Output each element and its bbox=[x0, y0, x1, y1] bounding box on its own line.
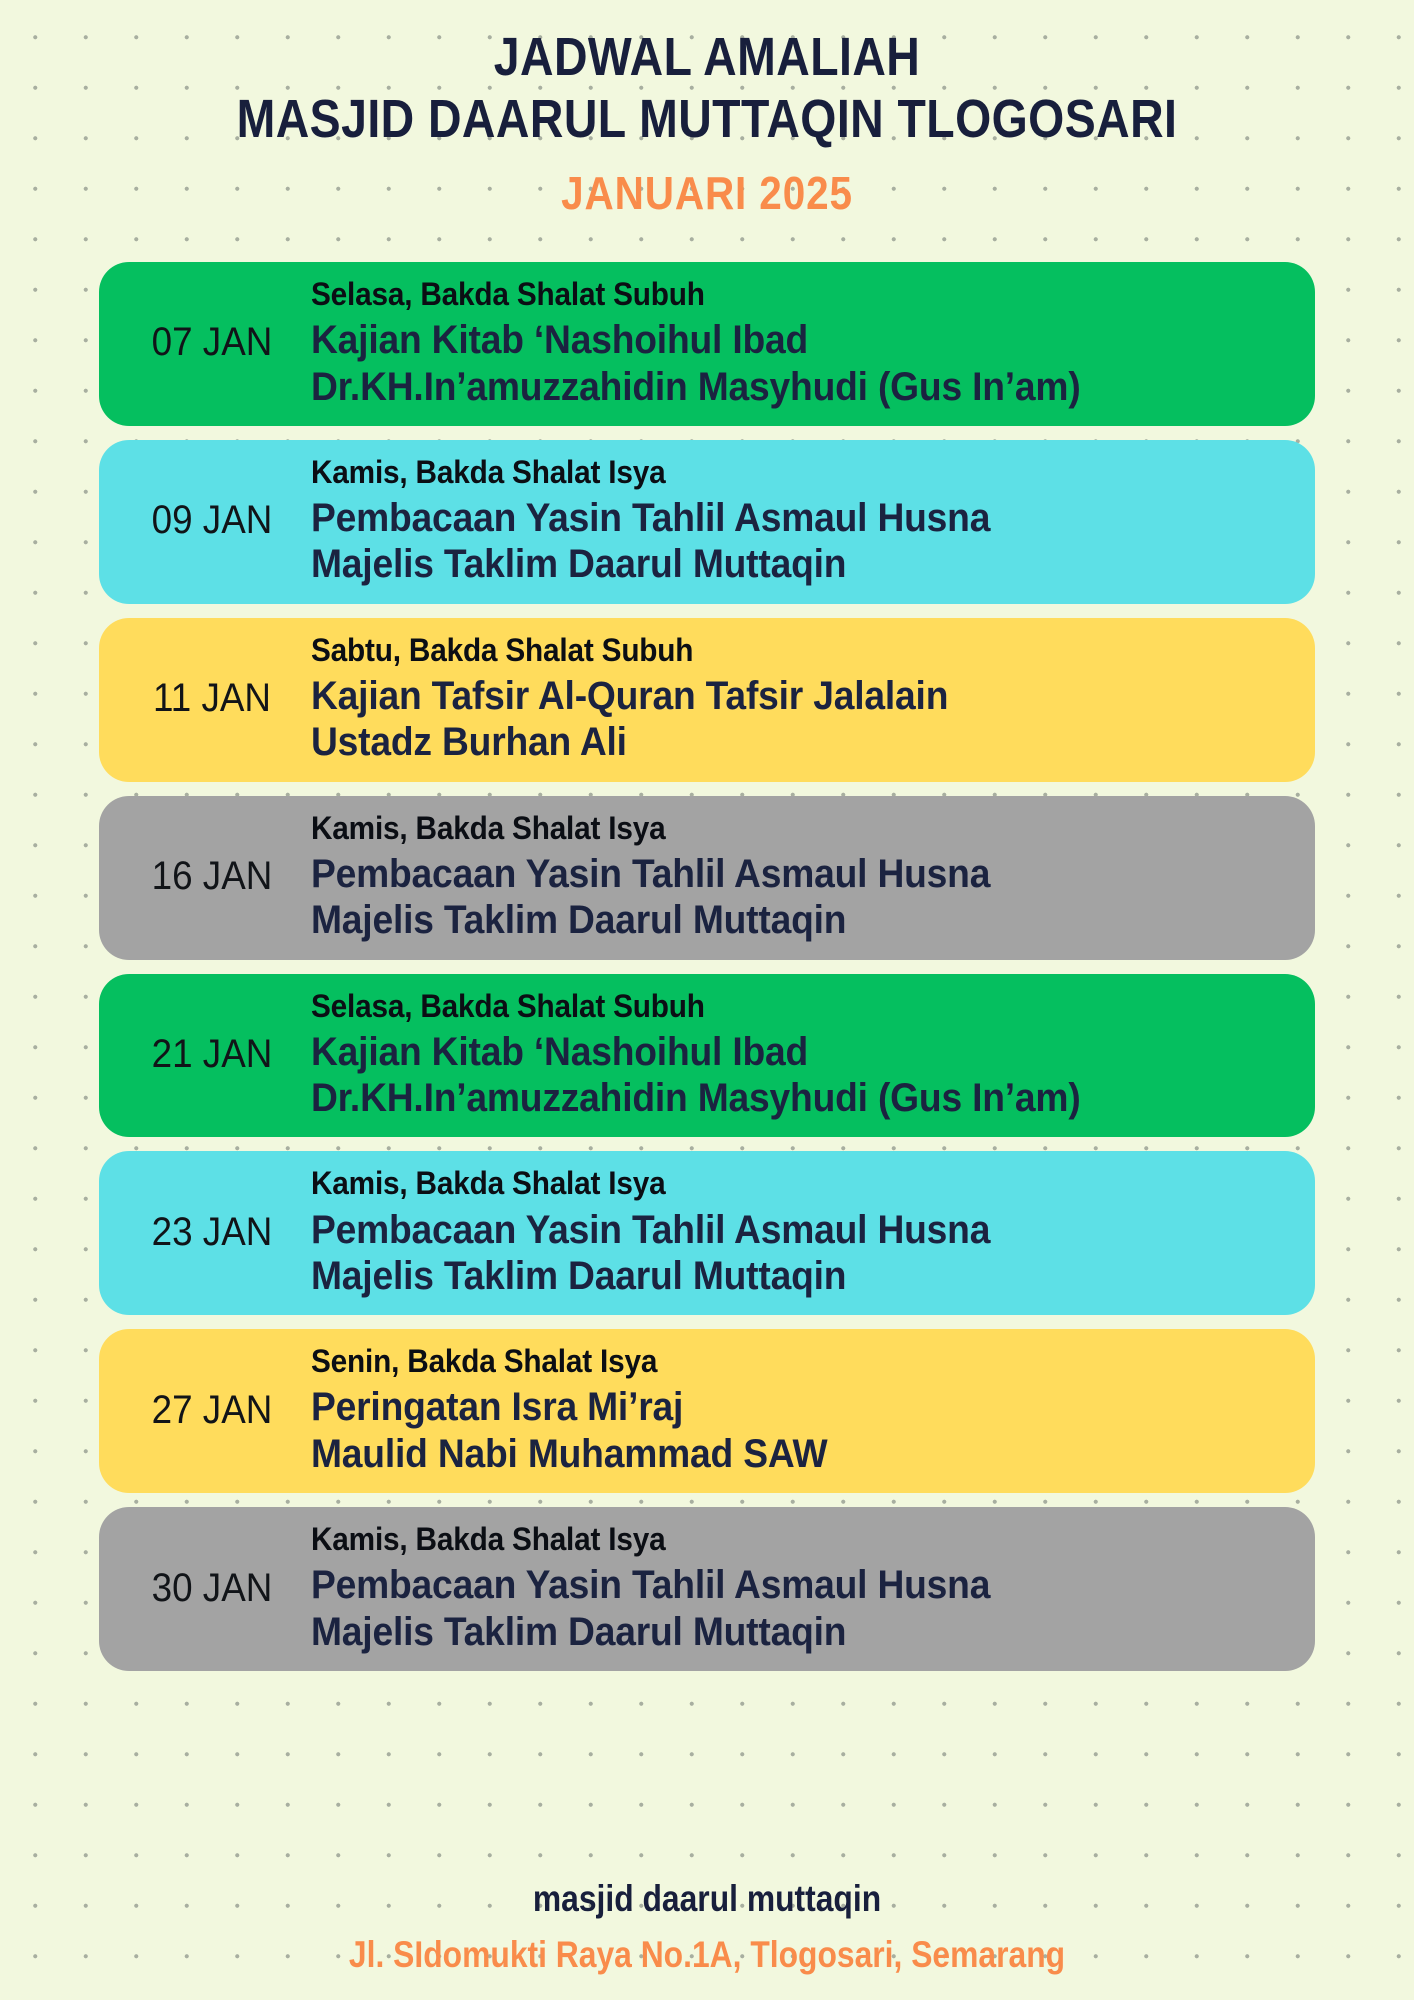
schedule-card: 07 JANSelasa, Bakda Shalat SubuhKajian K… bbox=[99, 262, 1315, 426]
schedule-card-title: Pembacaan Yasin Tahlil Asmaul Husna bbox=[311, 851, 1224, 897]
footer-mosque-name: masjid daarul muttaqin bbox=[99, 1878, 1315, 1920]
schedule-card-date: 07 JAN bbox=[128, 320, 295, 365]
schedule-card-title: Pembacaan Yasin Tahlil Asmaul Husna bbox=[311, 1562, 1224, 1608]
schedule-card-body: Kamis, Bakda Shalat IsyaPembacaan Yasin … bbox=[303, 810, 1293, 944]
schedule-card-title: Kajian Kitab ‘Nashoihul Ibad bbox=[311, 1029, 1224, 1075]
schedule-card-speaker: Maulid Nabi Muhammad SAW bbox=[311, 1431, 1224, 1477]
schedule-card-when: Kamis, Bakda Shalat Isya bbox=[311, 1521, 1224, 1558]
schedule-card-date: 23 JAN bbox=[128, 1210, 295, 1255]
schedule-card-body: Kamis, Bakda Shalat IsyaPembacaan Yasin … bbox=[303, 454, 1293, 588]
schedule-card-speaker: Ustadz Burhan Ali bbox=[311, 719, 1224, 765]
schedule-card-title: Pembacaan Yasin Tahlil Asmaul Husna bbox=[311, 1207, 1224, 1253]
schedule-card-date: 11 JAN bbox=[128, 676, 295, 721]
schedule-card: 30 JANKamis, Bakda Shalat IsyaPembacaan … bbox=[99, 1507, 1315, 1671]
schedule-card: 21 JANSelasa, Bakda Shalat SubuhKajian K… bbox=[99, 974, 1315, 1138]
schedule-card-speaker: Majelis Taklim Daarul Muttaqin bbox=[311, 541, 1224, 587]
schedule-card: 11 JANSabtu, Bakda Shalat SubuhKajian Ta… bbox=[99, 618, 1315, 782]
schedule-card: 23 JANKamis, Bakda Shalat IsyaPembacaan … bbox=[99, 1151, 1315, 1315]
schedule-card-speaker: Majelis Taklim Daarul Muttaqin bbox=[311, 1253, 1224, 1299]
schedule-card-when: Sabtu, Bakda Shalat Subuh bbox=[311, 632, 1224, 669]
schedule-card-title: Peringatan Isra Mi’raj bbox=[311, 1384, 1224, 1430]
schedule-card-body: Selasa, Bakda Shalat SubuhKajian Kitab ‘… bbox=[303, 276, 1293, 410]
schedule-card-body: Kamis, Bakda Shalat IsyaPembacaan Yasin … bbox=[303, 1165, 1293, 1299]
schedule-card-title: Kajian Tafsir Al-Quran Tafsir Jalalain bbox=[311, 673, 1224, 719]
schedule-card-date: 30 JAN bbox=[128, 1566, 295, 1611]
schedule-card-body: Selasa, Bakda Shalat SubuhKajian Kitab ‘… bbox=[303, 988, 1293, 1122]
schedule-card-speaker: Majelis Taklim Daarul Muttaqin bbox=[311, 897, 1224, 943]
schedule-card-when: Selasa, Bakda Shalat Subuh bbox=[311, 988, 1224, 1025]
poster-footer: masjid daarul muttaqin Jl. SIdomukti Ray… bbox=[0, 1878, 1414, 1976]
schedule-card-when: Senin, Bakda Shalat Isya bbox=[311, 1343, 1224, 1380]
schedule-card-title: Pembacaan Yasin Tahlil Asmaul Husna bbox=[311, 495, 1224, 541]
schedule-list: 07 JANSelasa, Bakda Shalat SubuhKajian K… bbox=[99, 262, 1315, 1671]
schedule-card-when: Kamis, Bakda Shalat Isya bbox=[311, 1165, 1224, 1202]
schedule-card-body: Senin, Bakda Shalat IsyaPeringatan Isra … bbox=[303, 1343, 1293, 1477]
poster-header: JADWAL AMALIAH MASJID DAARUL MUTTAQIN TL… bbox=[0, 0, 1414, 220]
schedule-card: 09 JANKamis, Bakda Shalat IsyaPembacaan … bbox=[99, 440, 1315, 604]
schedule-card-speaker: Majelis Taklim Daarul Muttaqin bbox=[311, 1609, 1224, 1655]
schedule-card-date: 27 JAN bbox=[128, 1388, 295, 1433]
schedule-card-when: Kamis, Bakda Shalat Isya bbox=[311, 810, 1224, 847]
schedule-card-date: 21 JAN bbox=[128, 1032, 295, 1077]
schedule-card-speaker: Dr.KH.In’amuzzahidin Masyhudi (Gus In’am… bbox=[311, 1075, 1224, 1121]
schedule-card-when: Kamis, Bakda Shalat Isya bbox=[311, 454, 1224, 491]
schedule-card-body: Kamis, Bakda Shalat IsyaPembacaan Yasin … bbox=[303, 1521, 1293, 1655]
schedule-card: 16 JANKamis, Bakda Shalat IsyaPembacaan … bbox=[99, 796, 1315, 960]
schedule-card-when: Selasa, Bakda Shalat Subuh bbox=[311, 276, 1224, 313]
page-title-line-2: MASJID DAARUL MUTTAQIN TLOGOSARI bbox=[99, 92, 1315, 146]
schedule-card: 27 JANSenin, Bakda Shalat IsyaPeringatan… bbox=[99, 1329, 1315, 1493]
page-subtitle-month: JANUARI 2025 bbox=[85, 166, 1329, 220]
schedule-card-body: Sabtu, Bakda Shalat SubuhKajian Tafsir A… bbox=[303, 632, 1293, 766]
schedule-card-date: 16 JAN bbox=[128, 854, 295, 899]
page-title-line-1: JADWAL AMALIAH bbox=[99, 30, 1315, 84]
schedule-card-speaker: Dr.KH.In’amuzzahidin Masyhudi (Gus In’am… bbox=[311, 364, 1224, 410]
footer-address: Jl. SIdomukti Raya No.1A, Tlogosari, Sem… bbox=[99, 1934, 1315, 1976]
schedule-card-title: Kajian Kitab ‘Nashoihul Ibad bbox=[311, 317, 1224, 363]
schedule-card-date: 09 JAN bbox=[128, 498, 295, 543]
